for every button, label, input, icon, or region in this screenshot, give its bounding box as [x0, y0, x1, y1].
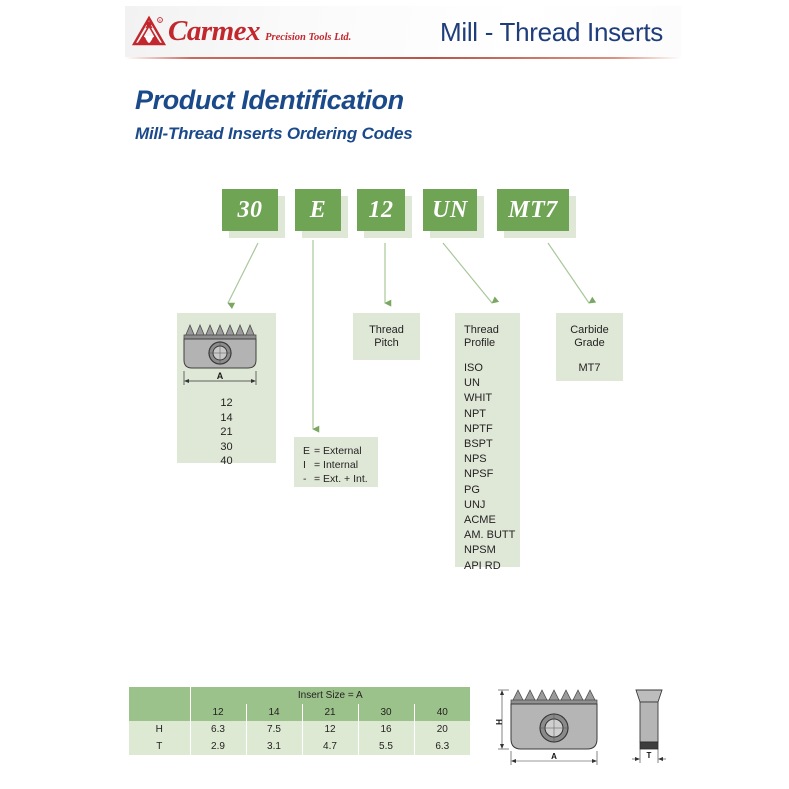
- insert-size-value: 12: [177, 396, 276, 411]
- table-cell: 2.9: [190, 738, 246, 755]
- direction-row: - = Ext. + Int.: [303, 472, 378, 486]
- insert-size-value: 14: [177, 411, 276, 426]
- brand-logo: R Carmex Precision Tools Ltd.: [132, 15, 351, 47]
- table-row-span-header: Insert Size = A: [129, 687, 470, 704]
- table-cell: 7.5: [246, 721, 302, 738]
- table-corner-cell: [129, 687, 190, 704]
- direction-key: E: [303, 444, 314, 458]
- thread-profile-title-line1: Thread: [464, 324, 520, 337]
- code-chip-insert-size[interactable]: 30: [222, 189, 278, 231]
- code-chip-profile[interactable]: UN: [423, 189, 477, 231]
- panel-thread-pitch: Thread Pitch: [353, 313, 420, 360]
- table-size-header: 21: [302, 704, 358, 721]
- table-corner-cell: [129, 704, 190, 721]
- direction-value: = External: [314, 444, 362, 458]
- table-size-header: 14: [246, 704, 302, 721]
- connector-grade: [548, 243, 589, 303]
- dimension-label-a: A: [217, 371, 224, 381]
- thread-profile-item: WHIT: [464, 391, 520, 406]
- direction-row: E = External: [303, 444, 378, 458]
- panel-carbide-grade: Carbide Grade MT7: [556, 313, 623, 381]
- insert-side-view-drawing: T: [624, 685, 676, 771]
- thread-pitch-title-line1: Thread: [353, 324, 420, 337]
- connector-profile: [443, 243, 492, 303]
- thread-profile-item: BSPT: [464, 437, 520, 452]
- dimension-label-t: T: [647, 751, 652, 760]
- table-cell: 5.5: [358, 738, 414, 755]
- code-chip-label: 30: [238, 197, 263, 224]
- thread-profile-item: UN: [464, 376, 520, 391]
- thread-profile-item: ACME: [464, 513, 520, 528]
- connector-insert-size: [228, 243, 258, 303]
- code-chip-label: MT7: [508, 197, 558, 224]
- thread-profile-item: PG: [464, 483, 520, 498]
- table-row-label: T: [129, 738, 190, 755]
- insert-size-value: 40: [177, 454, 276, 469]
- code-chip-label: E: [310, 197, 327, 224]
- table-row: T 2.9 3.1 4.7 5.5 6.3: [129, 738, 470, 755]
- insert-dimensions-table: Insert Size = A 12 14 21 30 40 H 6.3 7.5…: [129, 687, 470, 755]
- brand-tagline: Precision Tools Ltd.: [265, 32, 351, 43]
- thread-profile-item: NPS: [464, 452, 520, 467]
- thread-profile-item: API RD: [464, 559, 520, 574]
- table-cell: 6.3: [190, 721, 246, 738]
- table-size-header: 12: [190, 704, 246, 721]
- section-title: Product Identification: [135, 85, 404, 116]
- direction-key: I: [303, 458, 314, 472]
- code-chip-label: 12: [369, 197, 394, 224]
- table-row-label: H: [129, 721, 190, 738]
- thread-profile-list: ISO UN WHIT NPT NPTF BSPT NPS NPSF PG UN…: [464, 361, 520, 574]
- table-size-header: 30: [358, 704, 414, 721]
- carbide-grade-title-line2: Grade: [556, 337, 623, 350]
- connector-arrows: [0, 0, 789, 789]
- insert-front-view-drawing: H A: [484, 685, 614, 771]
- thread-profile-item: NPSM: [464, 543, 520, 558]
- table-cell: 12: [302, 721, 358, 738]
- thread-profile-item: ISO: [464, 361, 520, 376]
- table-cell: 20: [414, 721, 470, 738]
- insert-size-list: 12 14 21 30 40: [177, 396, 276, 469]
- panel-thread-profile: Thread Profile ISO UN WHIT NPT NPTF BSPT…: [455, 313, 520, 567]
- dimension-label-h: H: [495, 719, 504, 725]
- insert-size-value: 21: [177, 425, 276, 440]
- insert-front-view-icon: A: [177, 313, 276, 395]
- page-title: Mill - Thread Inserts: [440, 17, 663, 48]
- code-chip-label: UN: [432, 197, 468, 224]
- header-divider: [125, 57, 681, 59]
- carbide-grade-value: MT7: [556, 361, 623, 376]
- thread-profile-item: NPSF: [464, 467, 520, 482]
- direction-row: I = Internal: [303, 458, 378, 472]
- thread-profile-item: NPTF: [464, 422, 520, 437]
- table-row: H 6.3 7.5 12 16 20: [129, 721, 470, 738]
- code-chip-grade[interactable]: MT7: [497, 189, 569, 231]
- thread-pitch-title-line2: Pitch: [353, 337, 420, 350]
- direction-value: = Internal: [314, 458, 358, 472]
- panel-direction: E = External I = Internal - = Ext. + Int…: [294, 437, 378, 487]
- thread-profile-item: AM. BUTT: [464, 528, 520, 543]
- brand-name: Carmex: [168, 17, 260, 46]
- direction-value: = Ext. + Int.: [314, 472, 368, 486]
- section-subtitle: Mill-Thread Inserts Ordering Codes: [135, 124, 413, 144]
- code-chip-direction[interactable]: E: [295, 189, 341, 231]
- insert-size-value: 30: [177, 440, 276, 455]
- dimension-label-a: A: [551, 752, 557, 761]
- direction-key: -: [303, 472, 314, 486]
- table-size-header: 40: [414, 704, 470, 721]
- table-cell: 6.3: [414, 738, 470, 755]
- thread-profile-item: UNJ: [464, 498, 520, 513]
- carmex-triangle-logo: R: [132, 15, 166, 47]
- code-chip-pitch[interactable]: 12: [357, 189, 405, 231]
- table-span-header: Insert Size = A: [190, 687, 470, 704]
- thread-profile-title-line2: Profile: [464, 337, 520, 350]
- table-cell: 3.1: [246, 738, 302, 755]
- thread-profile-item: NPT: [464, 407, 520, 422]
- panel-insert-size: A 12 14 21 30 40: [177, 313, 276, 463]
- table-cell: 16: [358, 721, 414, 738]
- table-row-sizes: 12 14 21 30 40: [129, 704, 470, 721]
- datasheet-page: R Carmex Precision Tools Ltd. Mill - Thr…: [0, 0, 789, 789]
- table-cell: 4.7: [302, 738, 358, 755]
- carbide-grade-title-line1: Carbide: [556, 324, 623, 337]
